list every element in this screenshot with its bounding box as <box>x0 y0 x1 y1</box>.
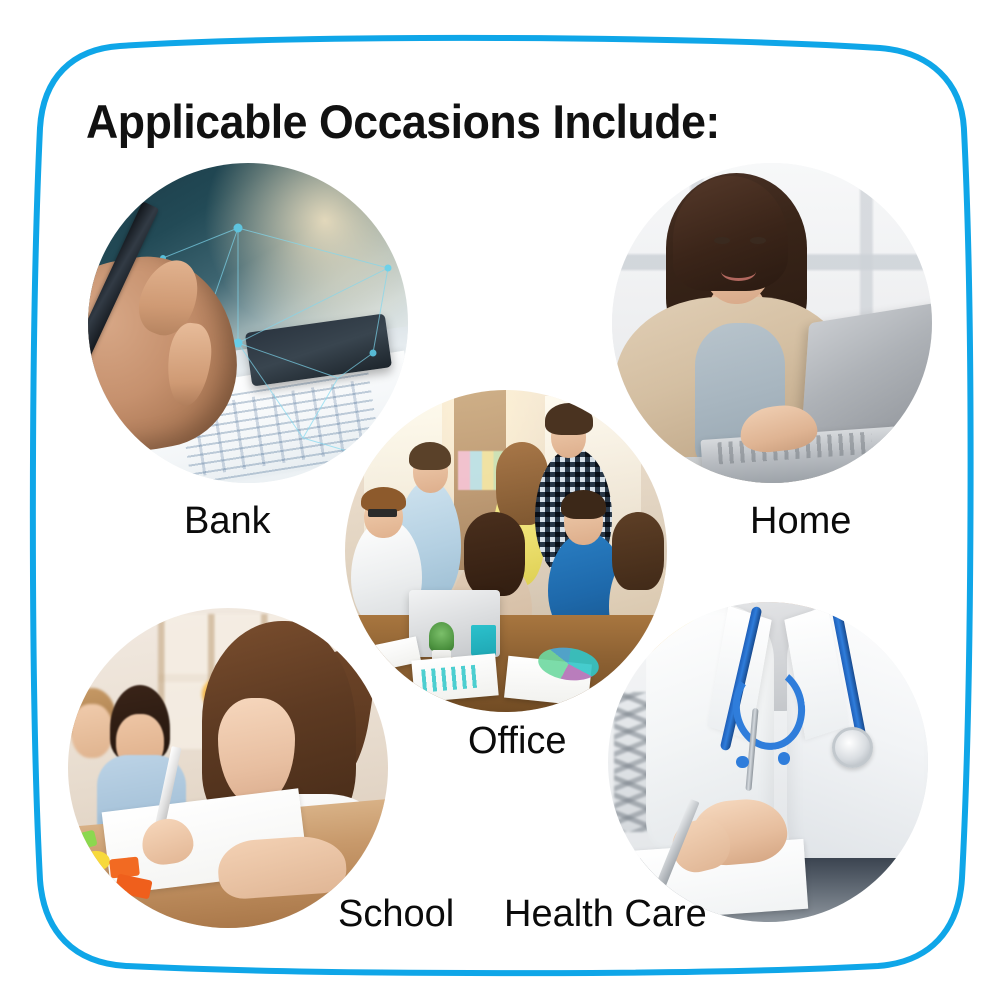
stethoscope-earpiece-left <box>736 756 749 769</box>
occasion-label-health-care: Health Care <box>504 893 707 936</box>
page-title: Applicable Occasions Include: <box>86 94 720 149</box>
school-scene <box>68 608 388 928</box>
school-image-circle <box>68 608 388 928</box>
occasion-label-office: Office <box>468 720 567 763</box>
promo-banner: Applicable Occasions Include: <box>0 0 1000 1000</box>
home-woman-eye-right <box>750 237 766 244</box>
occasion-label-school: School <box>338 893 454 936</box>
office-person-5-hair <box>561 490 606 519</box>
office-person-7-hair <box>464 512 525 596</box>
school-child-2-face <box>71 704 113 758</box>
school-girl-arm <box>217 834 349 900</box>
home-woman-eye-left <box>714 237 730 244</box>
occasion-label-bank: Bank <box>184 500 271 543</box>
occasion-label-home: Home <box>750 500 851 543</box>
office-person-6-hair <box>612 512 664 589</box>
office-potted-plant <box>429 622 455 651</box>
health-care-image-circle <box>608 602 928 922</box>
office-person-2-glasses <box>368 509 397 517</box>
stethoscope-chestpiece <box>832 727 873 768</box>
office-person-1-hair <box>409 442 451 471</box>
office-person-4-hair <box>545 403 593 435</box>
office-pen-cup <box>471 625 497 657</box>
health-care-scene <box>608 602 928 922</box>
